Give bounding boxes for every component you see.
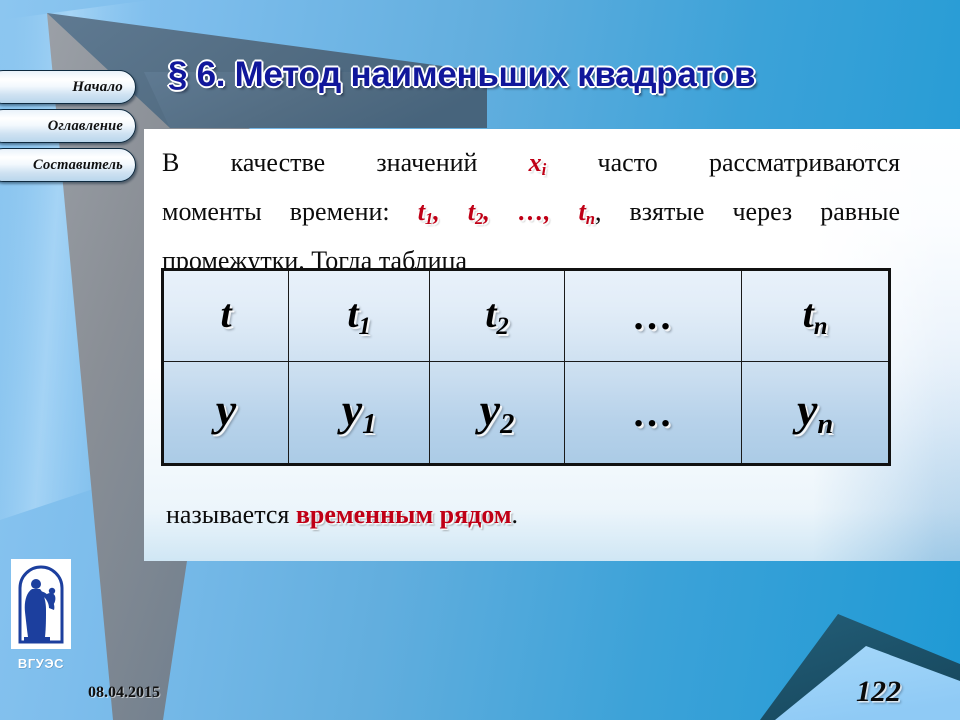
- body-line-2: моменты времени: t1, t2, …, tn, взятые ч…: [162, 191, 900, 240]
- math-x-sub: i: [542, 160, 547, 179]
- cell-base: t: [347, 291, 358, 336]
- math-t-sequence: t1, t2, …, tn: [418, 197, 595, 226]
- table-cell: y: [164, 361, 289, 463]
- slide-title: § 6. Метод наименьших квадратов: [168, 55, 755, 95]
- caption-highlight: временным рядом: [296, 500, 512, 529]
- math-t2-base: , t: [433, 197, 475, 226]
- cell-base: y: [480, 384, 500, 435]
- caption-prefix: называется: [166, 500, 296, 529]
- body-l2-w2: , взятые через равные: [595, 197, 900, 226]
- body-l2-w1: моменты времени:: [162, 197, 390, 226]
- cell-base: y: [216, 384, 236, 435]
- nav-button-contents[interactable]: Оглавление: [0, 109, 136, 143]
- nav-button-author-label: Составитель: [33, 157, 123, 174]
- caption-suffix: .: [512, 500, 519, 529]
- nav-button-start-label: Начало: [72, 79, 123, 96]
- table-cell-ellipsis: …: [564, 271, 741, 361]
- cell-base: …: [632, 390, 674, 435]
- caption-line: называется временным рядом.: [166, 500, 518, 530]
- cell-sub: 1: [358, 313, 370, 340]
- vgues-statue-logo-icon: [10, 558, 72, 650]
- logo-label: ВГУЭС: [10, 656, 72, 671]
- cell-sub: 2: [500, 409, 514, 440]
- nav-button-author[interactable]: Составитель: [0, 148, 136, 182]
- table-cell: y1: [289, 361, 430, 463]
- body-l1-w5: рассматриваются: [709, 148, 900, 177]
- table-cell: y2: [430, 361, 565, 463]
- cell-base: t: [220, 291, 231, 336]
- table-cell: t: [164, 271, 289, 361]
- cell-sub: 1: [362, 409, 376, 440]
- body-l1-w3: значений: [376, 148, 477, 177]
- body-l1-w1: В: [162, 148, 179, 177]
- cell-base: t: [485, 291, 496, 336]
- math-t1-sub: 1: [425, 209, 433, 228]
- cell-base: y: [797, 384, 817, 435]
- math-tn-sub: n: [586, 209, 595, 228]
- footer-date: 08.04.2015: [88, 684, 160, 702]
- table-cell-ellipsis: …: [564, 361, 741, 463]
- cell-sub: n: [814, 313, 828, 340]
- math-x-i: xi: [529, 148, 547, 177]
- table-cell: t2: [430, 271, 565, 361]
- math-tn-base: , …, t: [483, 197, 585, 226]
- table-row: t t1 t2 … tn: [164, 271, 888, 361]
- table-cell: t1: [289, 271, 430, 361]
- cell-sub: n: [817, 409, 833, 440]
- body-l1-w4: часто: [598, 148, 658, 177]
- cell-base: y: [342, 384, 362, 435]
- nav-button-contents-label: Оглавление: [48, 118, 123, 135]
- table-row: y y1 y2 … yn: [164, 361, 888, 463]
- time-series-table: t t1 t2 … tn y y1 y2 … yn: [161, 268, 891, 466]
- body-l1-w2: качестве: [231, 148, 326, 177]
- presentation-slide: Начало Оглавление Составитель § 6. Метод…: [0, 0, 960, 720]
- body-line-1: В качестве значений xi часто рассматрива…: [162, 142, 900, 191]
- math-t1-base: t: [418, 197, 425, 226]
- body-paragraph: В качестве значений xi часто рассматрива…: [162, 142, 900, 282]
- math-x-base: x: [529, 148, 542, 177]
- nav-button-stack: Начало Оглавление Составитель: [0, 70, 136, 187]
- cell-sub: 2: [496, 313, 508, 340]
- cell-base: …: [632, 293, 674, 338]
- vgues-logo-block: ВГУЭС: [10, 558, 72, 671]
- table-cell: yn: [742, 361, 888, 463]
- page-number: 122: [856, 675, 901, 709]
- nav-button-start[interactable]: Начало: [0, 70, 136, 104]
- cell-base: t: [803, 291, 814, 336]
- table-cell: tn: [742, 271, 888, 361]
